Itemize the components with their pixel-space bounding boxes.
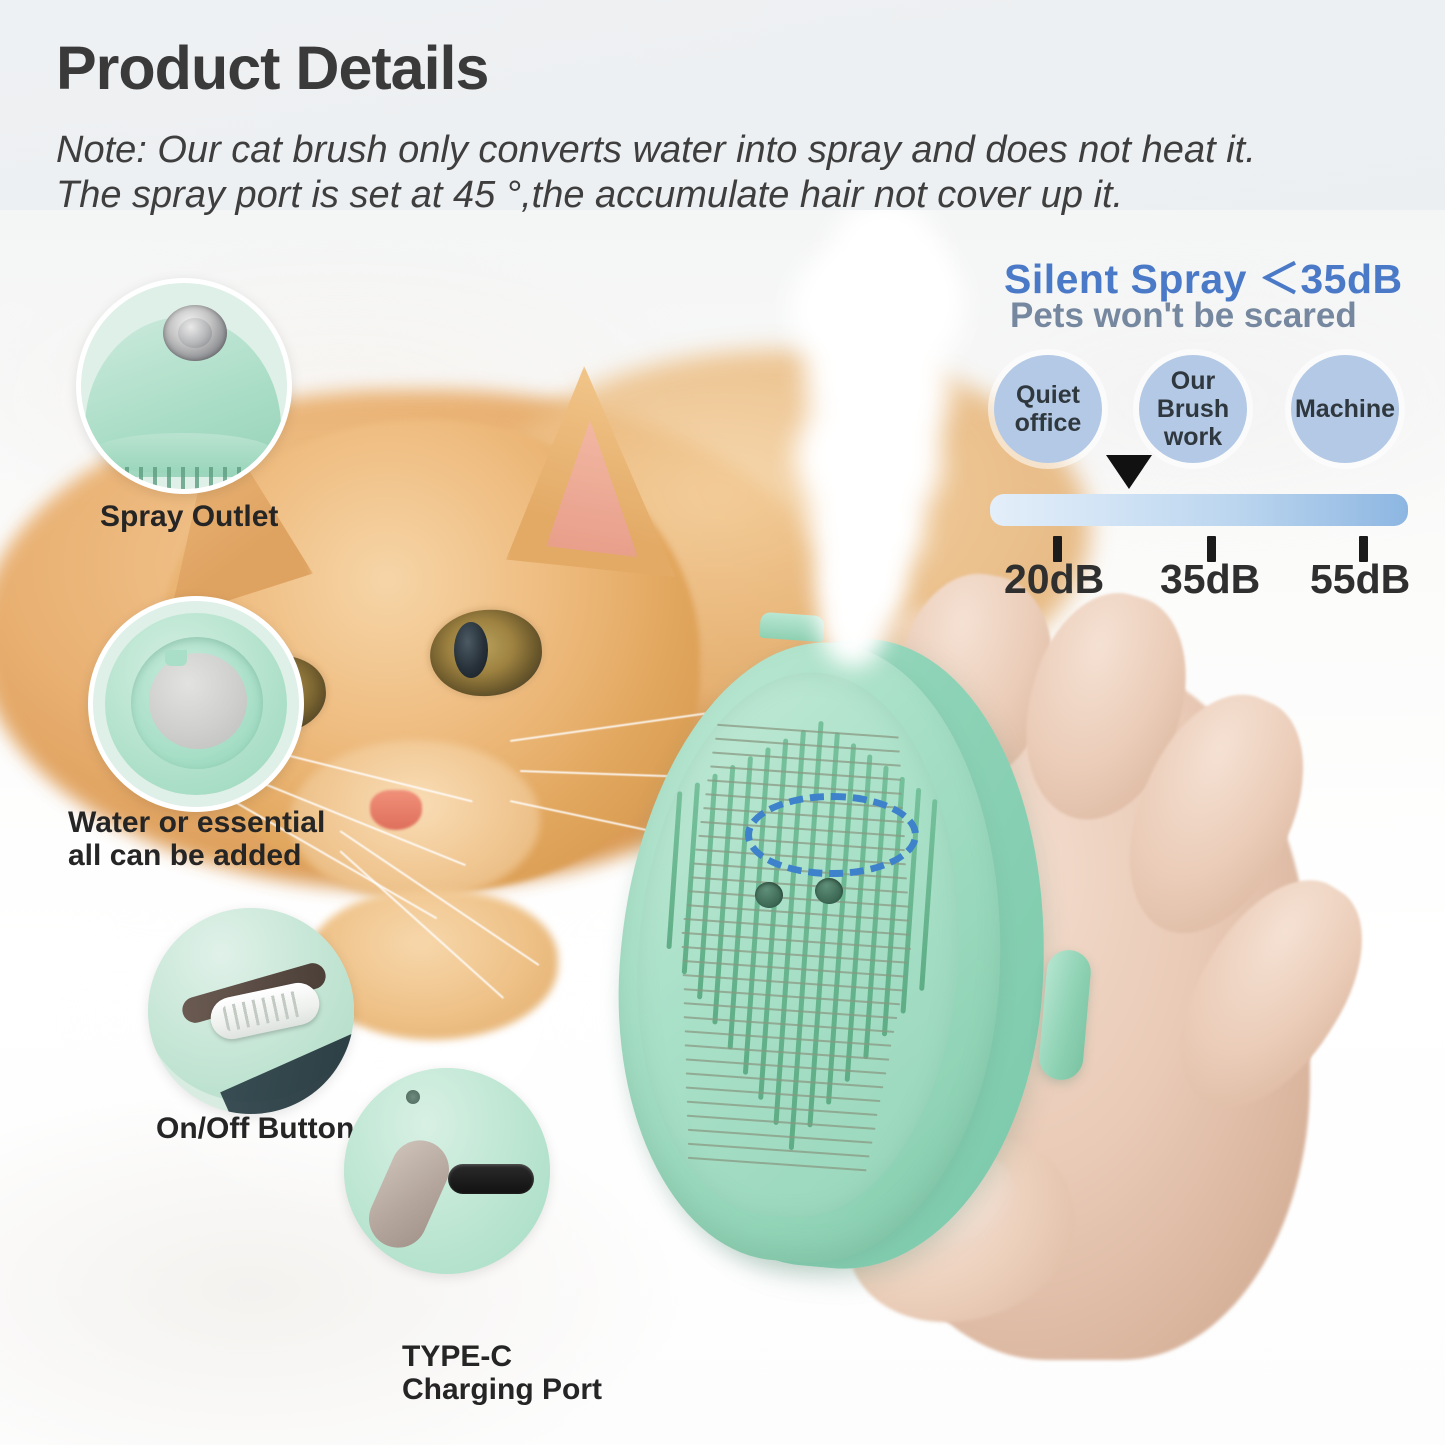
type-c-port-icon [448, 1164, 534, 1194]
noise-bubble-3-line1: Machine [1295, 395, 1395, 423]
noise-scale-bar [990, 494, 1408, 526]
brush-pin-row [685, 1044, 889, 1060]
tank-sponge [149, 653, 247, 749]
cat-pupil-right [454, 622, 488, 678]
callout-spray-outlet-image [76, 278, 292, 494]
brush-pin-row [687, 1129, 872, 1144]
brush-pin-row [688, 1157, 866, 1171]
silent-spray-subtitle: Pets won't be scared [1010, 296, 1357, 336]
brush-pin-row [686, 1072, 884, 1087]
steam-brush-product [615, 620, 1095, 1280]
page-title: Product Details [56, 38, 488, 99]
noise-bubble-1-line2: office [1015, 409, 1082, 437]
brush-pin-row [687, 1101, 878, 1116]
steam-plume [770, 210, 980, 640]
noise-bubble-1-line1: Quiet [1016, 381, 1080, 409]
brush-pin-row [708, 779, 902, 794]
noise-bubble-2-line3: work [1164, 423, 1222, 451]
brush-bristles [636, 681, 961, 1210]
noise-bubble-2-line2: Brush [1157, 395, 1229, 423]
brush-pin-row [712, 752, 900, 767]
brush-pin-row [710, 765, 901, 780]
callout-label-charging-port-line2: Charging Port [402, 1373, 602, 1406]
callout-charging-port-image [344, 1068, 550, 1274]
brush-pin-row [685, 1058, 886, 1074]
note-line-2: The spray port is set at 45 °,the accumu… [56, 173, 1406, 218]
callout-water-tank-image [88, 596, 304, 812]
brush-pin-row [686, 1087, 880, 1102]
brush-pin-row [715, 738, 900, 753]
brush-pin-row [684, 1030, 891, 1046]
brush-comb-tooth [666, 791, 682, 949]
noise-level-marker-triangle-icon [1106, 455, 1152, 489]
noise-label-35db: 35dB [1160, 556, 1260, 603]
callout-label-water-tank-line1: Water or essential [68, 806, 325, 839]
brush-pin-row [717, 724, 899, 738]
noise-label-55db: 55dB [1310, 556, 1410, 603]
noise-bubble-machine: Machine [1291, 355, 1399, 463]
reset-pinhole [406, 1090, 420, 1104]
steam-puff [828, 610, 878, 666]
callout-label-charging-port-line1: TYPE-C [402, 1340, 602, 1373]
noise-bubble-2-line1: Our [1171, 367, 1215, 395]
noise-bubble-quiet-office: Quiet office [994, 355, 1102, 463]
callout-label-charging-port: TYPE-C Charging Port [402, 1340, 602, 1406]
noise-bubble-our-brush: Our Brush work [1139, 355, 1247, 463]
note-text: Note: Our cat brush only converts water … [56, 128, 1406, 218]
brush-pin-row [688, 1143, 870, 1157]
brush-side-button[interactable] [1037, 948, 1092, 1081]
brush-comb-tooth [919, 799, 937, 991]
callout-label-water-tank-line2: all can be added [68, 839, 325, 872]
noise-label-20db: 20dB [1004, 556, 1104, 603]
callout-label-spray-outlet: Spray Outlet [100, 500, 278, 533]
note-line-1: Note: Our cat brush only converts water … [56, 128, 1406, 173]
cat-nose [370, 790, 422, 830]
spray-port-highlight-circle [745, 793, 919, 877]
product-details-infographic: Product Details Note: Our cat brush only… [0, 0, 1445, 1445]
spray-outlet-nozzle-icon [163, 305, 227, 361]
callout-label-water-tank: Water or essential all can be added [68, 806, 325, 872]
callout-on-off-button-image [148, 908, 354, 1114]
brush-pin-row [687, 1115, 875, 1130]
callout-label-on-off-button: On/Off Button [156, 1112, 354, 1145]
